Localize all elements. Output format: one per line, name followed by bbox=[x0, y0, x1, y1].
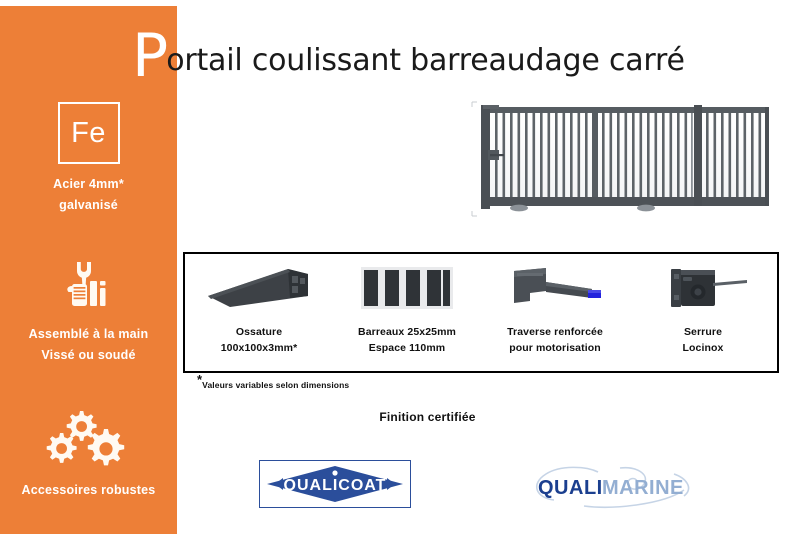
feature-traverse: Traverse renforcée pour motorisation bbox=[481, 254, 629, 371]
sidebar-item-assemblage-label-2: Vissé ou soudé bbox=[0, 345, 177, 366]
certification-heading: Finition certifiée bbox=[0, 410, 800, 424]
footnote: *Valeurs variables selon dimensions bbox=[197, 380, 349, 390]
sidebar-item-accessoires-label-1: Accessoires robustes bbox=[0, 480, 177, 501]
page-title-dropcap: P bbox=[132, 30, 168, 82]
sidebar-item-acier-label-2: galvanisé bbox=[0, 195, 177, 216]
qualimarine-wordmark-light: MARINE bbox=[602, 477, 684, 499]
fe-symbol-label: Fe bbox=[71, 119, 106, 148]
square-bars-icon bbox=[361, 262, 453, 314]
sliding-gate-illustration bbox=[466, 96, 784, 222]
footnote-text: Valeurs variables selon dimensions bbox=[202, 380, 349, 390]
product-sheet-page: Fe Acier 4mm* galvanisé bbox=[0, 0, 800, 534]
feature-barreaux-label-1: Barreaux 25x25mm bbox=[358, 324, 456, 340]
reinforced-crossbar-icon bbox=[500, 262, 610, 314]
qualicoat-logo: QUALICOAT QUALICOAT bbox=[259, 460, 411, 508]
sidebar-item-acier: Fe Acier 4mm* galvanisé bbox=[0, 102, 177, 215]
feature-barreaux-label-2: Espace 110mm bbox=[358, 340, 456, 356]
qualimarine-wordmark-bold: QUALI bbox=[538, 477, 603, 499]
feature-serrure-label-1: Serrure bbox=[683, 324, 724, 340]
page-title-text: ortail coulissant barreaudage carré bbox=[166, 43, 685, 78]
features-box: Ossature 100x100x3mm* Barreaux 25x25mm E… bbox=[183, 252, 779, 373]
sidebar-item-acier-label-1: Acier 4mm* bbox=[0, 174, 177, 195]
feature-ossature: Ossature 100x100x3mm* bbox=[185, 254, 333, 371]
feature-traverse-label-1: Traverse renforcée bbox=[507, 324, 603, 340]
sidebar-item-assemblage: Assemblé à la main Vissé ou soudé bbox=[0, 256, 177, 365]
certification-heading-text: Finition certifiée bbox=[379, 410, 475, 424]
fe-element-box-icon: Fe bbox=[58, 102, 120, 164]
page-title: P ortail coulissant barreaudage carré bbox=[132, 24, 792, 84]
lock-icon bbox=[655, 262, 751, 314]
qualicoat-wordmark: QUALICOAT bbox=[284, 477, 387, 494]
feature-ossature-label-2: 100x100x3mm* bbox=[221, 340, 298, 356]
steel-profile-icon bbox=[204, 262, 314, 314]
feature-barreaux: Barreaux 25x25mm Espace 110mm bbox=[333, 254, 481, 371]
qualimarine-logo: QUALI MARINE QUALI MARINE bbox=[524, 464, 706, 510]
feature-serrure-label-2: Locinox bbox=[683, 340, 724, 356]
feature-ossature-label-1: Ossature bbox=[221, 324, 298, 340]
feature-traverse-label-2: pour motorisation bbox=[507, 340, 603, 356]
feature-serrure: Serrure Locinox bbox=[629, 254, 777, 371]
sidebar-item-assemblage-label-1: Assemblé à la main bbox=[0, 324, 177, 345]
hand-wrench-icon bbox=[0, 256, 177, 320]
